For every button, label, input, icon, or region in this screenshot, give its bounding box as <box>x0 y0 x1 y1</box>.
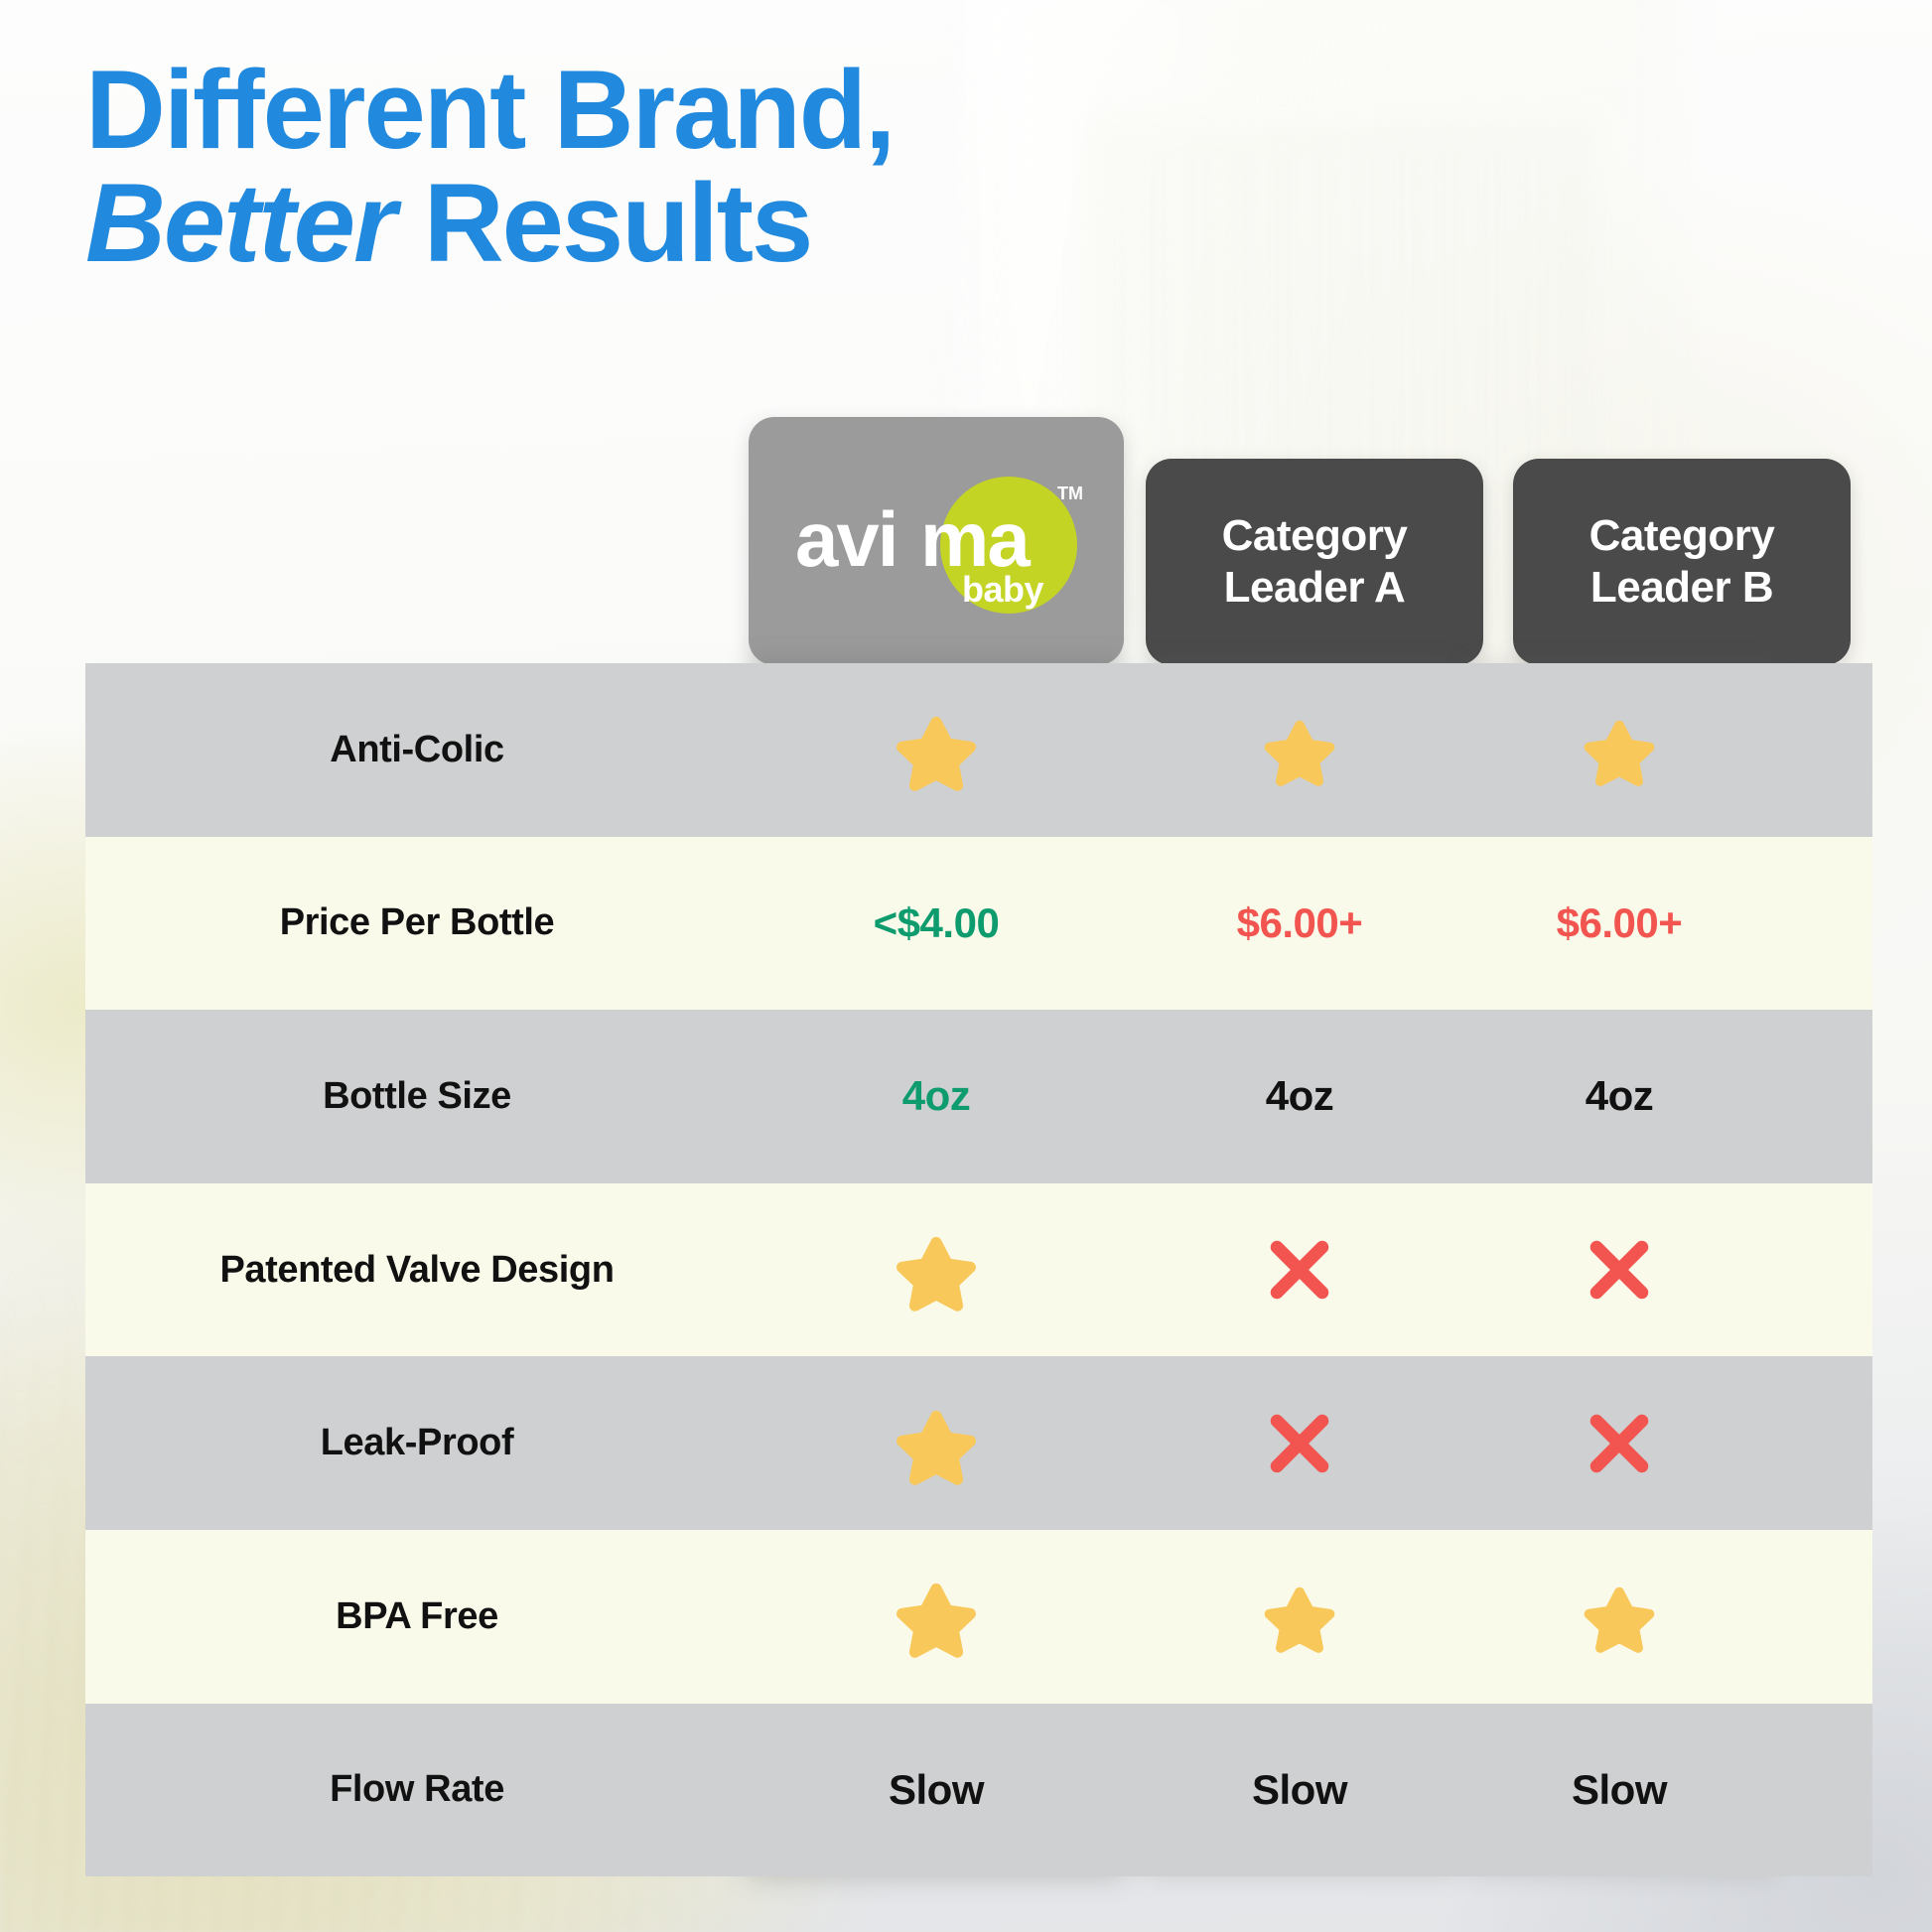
column-header-leader-b-label: Category Leader B <box>1589 510 1775 614</box>
cell-avima <box>749 1183 1124 1357</box>
headline-line-2-rest: Results <box>395 161 812 285</box>
cell-spacer <box>1773 663 1872 837</box>
table-row: Anti-Colic <box>85 663 1872 837</box>
star-icon <box>1262 712 1337 787</box>
cell-spacer <box>1453 1010 1465 1183</box>
headline-line-1: Different Brand, <box>85 54 894 167</box>
cell-spacer <box>1773 1530 1872 1704</box>
cell-leader_b: 4oz <box>1465 1010 1773 1183</box>
cell-spacer <box>1453 1356 1465 1530</box>
cell-leader_b <box>1465 1183 1773 1357</box>
headline-emphasis: Better <box>85 161 395 285</box>
cell-leader_b: Slow <box>1465 1704 1773 1877</box>
cell-spacer <box>1124 1183 1146 1357</box>
cell-value: <$4.00 <box>874 899 1000 947</box>
close-icon <box>1582 1232 1657 1308</box>
cell-spacer <box>1453 1183 1465 1357</box>
row-label: Patented Valve Design <box>85 1183 749 1357</box>
cell-avima <box>749 1356 1124 1530</box>
cell-spacer <box>1453 663 1465 837</box>
avima-logo-ma: ma <box>920 500 1029 578</box>
avima-logo-avi: avi <box>795 500 897 578</box>
cell-avima: Slow <box>749 1704 1124 1877</box>
cell-value: 4oz <box>1586 1072 1654 1120</box>
cell-avima: <$4.00 <box>749 837 1124 1011</box>
cell-leader_a: Slow <box>1146 1704 1453 1877</box>
star-icon <box>1582 712 1657 787</box>
cell-spacer <box>1773 1704 1872 1877</box>
row-label: Price Per Bottle <box>85 837 749 1011</box>
avima-logo-baby: baby <box>962 572 1043 608</box>
cell-leader_a <box>1146 1183 1453 1357</box>
avima-logo: avi ma baby TM <box>787 467 1085 616</box>
column-header-leader-a-label: Category Leader A <box>1222 510 1408 614</box>
table-row: Leak-Proof <box>85 1356 1872 1530</box>
cell-spacer <box>1773 1183 1872 1357</box>
cell-leader_a <box>1146 1530 1453 1704</box>
cell-value: Slow <box>1252 1766 1347 1814</box>
cell-spacer <box>1124 1356 1146 1530</box>
cell-value: $6.00+ <box>1237 899 1363 947</box>
star-icon <box>894 1574 979 1659</box>
table-row: BPA Free <box>85 1530 1872 1704</box>
cell-value: 4oz <box>902 1072 971 1120</box>
trademark-icon: TM <box>1057 484 1083 502</box>
cell-spacer <box>1124 663 1146 837</box>
cell-leader_a <box>1146 1356 1453 1530</box>
cell-spacer <box>1453 837 1465 1011</box>
row-label: BPA Free <box>85 1530 749 1704</box>
row-label: Bottle Size <box>85 1010 749 1183</box>
cell-spacer <box>1124 837 1146 1011</box>
column-header-leader-b: Category Leader B <box>1513 459 1851 665</box>
column-header-leader-a: Category Leader A <box>1146 459 1483 665</box>
cell-spacer <box>1124 1010 1146 1183</box>
close-icon <box>1582 1406 1657 1481</box>
page-title: Different Brand, Better Results <box>85 54 894 280</box>
row-label: Anti-Colic <box>85 663 749 837</box>
close-icon <box>1262 1232 1337 1308</box>
row-label: Leak-Proof <box>85 1356 749 1530</box>
close-icon <box>1262 1406 1337 1481</box>
cell-leader_b <box>1465 1530 1773 1704</box>
cell-spacer <box>1124 1530 1146 1704</box>
star-icon <box>894 1227 979 1312</box>
column-header-avima: avi ma baby TM <box>749 417 1124 665</box>
star-icon <box>1262 1579 1337 1654</box>
cell-spacer <box>1453 1704 1465 1877</box>
cell-leader_a: 4oz <box>1146 1010 1453 1183</box>
cell-leader_a: $6.00+ <box>1146 837 1453 1011</box>
cell-value: Slow <box>1572 1766 1667 1814</box>
cell-spacer <box>1453 1530 1465 1704</box>
cell-leader_a <box>1146 663 1453 837</box>
cell-value: 4oz <box>1266 1072 1334 1120</box>
table-rows: Anti-ColicPrice Per Bottle<$4.00$6.00+$6… <box>85 663 1872 1876</box>
cell-spacer <box>1124 1704 1146 1877</box>
cell-leader_b: $6.00+ <box>1465 837 1773 1011</box>
cell-avima <box>749 663 1124 837</box>
star-icon <box>894 707 979 792</box>
headline-line-2: Better Results <box>85 167 894 280</box>
table-row: Patented Valve Design <box>85 1183 1872 1357</box>
cell-spacer <box>1773 1356 1872 1530</box>
cell-spacer <box>1773 837 1872 1011</box>
table-row: Price Per Bottle<$4.00$6.00+$6.00+ <box>85 837 1872 1011</box>
cell-value: Slow <box>889 1766 984 1814</box>
comparison-table: Anti-ColicPrice Per Bottle<$4.00$6.00+$6… <box>85 663 1872 1876</box>
cell-avima <box>749 1530 1124 1704</box>
table-row: Bottle Size4oz4oz4oz <box>85 1010 1872 1183</box>
cell-value: $6.00+ <box>1557 899 1683 947</box>
star-icon <box>1582 1579 1657 1654</box>
cell-leader_b <box>1465 1356 1773 1530</box>
row-label: Flow Rate <box>85 1704 749 1877</box>
table-row: Flow RateSlowSlowSlow <box>85 1704 1872 1877</box>
star-icon <box>894 1401 979 1486</box>
cell-spacer <box>1773 1010 1872 1183</box>
cell-avima: 4oz <box>749 1010 1124 1183</box>
cell-leader_b <box>1465 663 1773 837</box>
